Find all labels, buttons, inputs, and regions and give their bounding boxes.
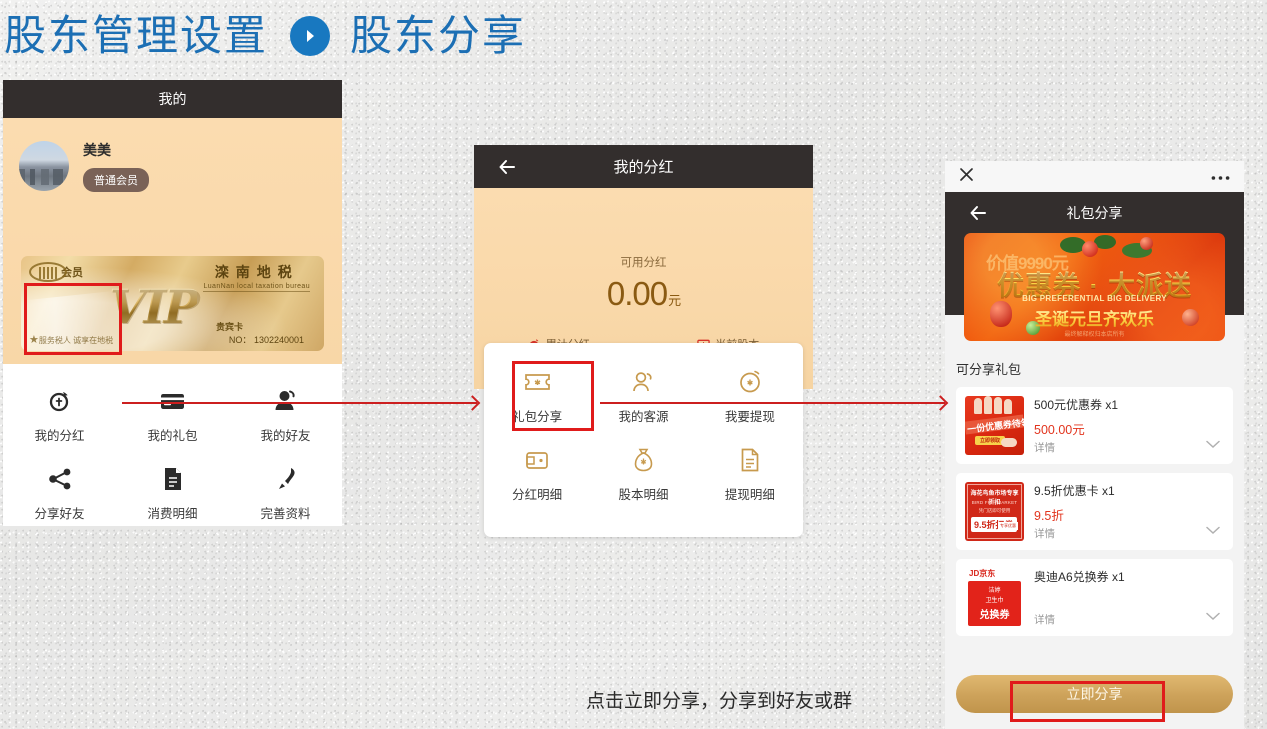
- back-arrow-icon[interactable]: [498, 158, 516, 176]
- user-row: 美美 普通会员: [3, 118, 342, 192]
- banner-sub-text: 圣诞元旦齐欢乐: [978, 305, 1211, 330]
- menu-label: 分享好友: [34, 503, 84, 522]
- thumb-inner: 海花鸟鱼市场专享折扣 BIRD FISH MARKET 凭门店即可使用 9.5折…: [967, 484, 1022, 539]
- mid-header-bar: 我的分红: [474, 145, 813, 188]
- page-subtitle: 股东分享: [350, 15, 526, 57]
- thumb-line1: 一份优惠券待领取: [966, 415, 1024, 435]
- menu-item-complete-profile[interactable]: 完善资料: [229, 454, 342, 526]
- promo-banner[interactable]: 价值9990元 优惠券 · 大派送 BIG PREFERENTIAL BIG D…: [964, 233, 1225, 341]
- close-icon[interactable]: [959, 167, 974, 187]
- gift-detail-label: 详情: [1034, 526, 1055, 541]
- friends-icon: [273, 388, 298, 414]
- grid-row: 礼包分享 我的客源 我要提现: [484, 357, 803, 435]
- gift-thumbnail: 海花鸟鱼市场专享折扣 BIRD FISH MARKET 凭门店即可使用 9.5折…: [965, 482, 1024, 541]
- vip-membership-card[interactable]: 会员 滦南地税 LuanNan local taxation bureau VI…: [21, 256, 324, 351]
- flow-arrow-1: [122, 402, 477, 404]
- available-unit: 元: [668, 293, 680, 308]
- menu-label: 我的好友: [260, 425, 310, 444]
- menu-item-dividend-detail[interactable]: 分红明细: [484, 435, 590, 513]
- available-dividend-value: 0.00元: [474, 275, 813, 313]
- list-item[interactable]: 海花鸟鱼市场专享折扣 BIRD FISH MARKET 凭门店即可使用 9.5折…: [956, 473, 1233, 550]
- phone-screen-profile: 我的 美美 普通会员 会员 滦南地税 LuanNan local taxatio…: [3, 80, 342, 526]
- finger-decor: [974, 398, 982, 414]
- edit-profile-icon: [275, 466, 297, 492]
- gift-thumbnail: JD京东 洁婷 卫生巾 兑换券: [965, 568, 1024, 627]
- gift-body: 奥迪A6兑换券 x1 详情: [1034, 568, 1224, 627]
- menu-item-my-gift[interactable]: 我的礼包: [116, 376, 229, 454]
- banner-en-text: BIG PREFERENTIAL BIG DELIVERY: [978, 294, 1211, 303]
- gift-amount: 9.5折: [1034, 505, 1224, 524]
- vip-number-value: 1302240001: [254, 335, 304, 345]
- menu-item-my-friends[interactable]: 我的好友: [229, 376, 342, 454]
- document-icon: [163, 466, 183, 492]
- flow-arrow-2: [600, 402, 945, 404]
- phone-screen-dividend: 我的分红 可用分红 0.00元 累计分红 0.00元 当前股本 20000.00…: [474, 145, 813, 543]
- thumb-box: 洁婷 卫生巾 兑换券: [968, 581, 1021, 626]
- list-item[interactable]: 一份优惠券待领取 立即领取 500元优惠券 x1 500.00元 详情: [956, 387, 1233, 464]
- thumb-tag2: 专享优惠: [998, 522, 1018, 530]
- ornament-decor: [1082, 241, 1098, 257]
- list-item[interactable]: JD京东 洁婷 卫生巾 兑换券 奥迪A6兑换券 x1 详情: [956, 559, 1233, 636]
- money-bag-icon: [632, 447, 655, 473]
- user-meta: 美美 普通会员: [83, 140, 149, 192]
- menu-label: 分红明细: [512, 484, 562, 503]
- gift-detail-label: 详情: [1034, 440, 1055, 455]
- gift-title: 9.5折优惠卡 x1: [1034, 482, 1224, 499]
- ornament-decor: [1140, 237, 1153, 250]
- wechat-topbar: [945, 161, 1244, 192]
- menu-item-gift-share[interactable]: 礼包分享: [484, 357, 590, 435]
- menu-item-capital-detail[interactable]: 股本明细: [590, 435, 696, 513]
- menu-label: 我要提现: [725, 406, 775, 425]
- menu-item-my-customers[interactable]: 我的客源: [590, 357, 696, 435]
- banner-foot-text: 最终解释权归本店所有: [978, 329, 1211, 338]
- gift-body: 9.5折优惠卡 x1 9.5折 详情: [1034, 482, 1224, 541]
- menu-label: 提现明细: [725, 484, 775, 503]
- gift-body: 500元优惠券 x1 500.00元 详情: [1034, 396, 1224, 455]
- available-amount: 0.00: [607, 275, 667, 312]
- chevron-down-icon[interactable]: [1206, 436, 1220, 454]
- vip-slogan: ★服务税人 诚享在地税: [29, 333, 113, 346]
- back-arrow-icon[interactable]: [969, 204, 987, 222]
- thumb-line2: BIRD FISH MARKET: [968, 500, 1021, 505]
- more-dots-icon[interactable]: [1211, 168, 1230, 186]
- menu-item-consumption-detail[interactable]: 消费明细: [116, 454, 229, 526]
- chevron-right-circle-icon: [290, 16, 330, 56]
- profile-menu-grid: 我的分红 我的礼包 我的好友 分享好友: [3, 364, 342, 526]
- right-header-title: 礼包分享: [1067, 203, 1123, 223]
- left-header-title: 我的: [159, 89, 187, 109]
- menu-item-share-friends[interactable]: 分享好友: [3, 454, 116, 526]
- gift-thumbnail: 一份优惠券待领取 立即领取: [965, 396, 1024, 455]
- bureau-emblem-icon: [29, 262, 67, 282]
- grid-row: 分享好友 消费明细 完善资料: [3, 454, 342, 526]
- menu-label: 我的分红: [34, 425, 84, 444]
- vip-bureau-en: LuanNan local taxation bureau: [203, 283, 310, 290]
- finger-decor: [984, 396, 992, 414]
- gift-sheet: 可分享礼包 一份优惠券待领取 立即领取 500元优惠券 x1 500.00元 详…: [945, 315, 1244, 729]
- gift-title: 奥迪A6兑换券 x1: [1034, 568, 1224, 585]
- gift-detail-label: 详情: [1034, 612, 1055, 627]
- star-icon: ★: [29, 334, 39, 346]
- vip-subtitle: 贵宾卡: [216, 320, 243, 333]
- banner-area: 价值9990元 优惠券 · 大派送 BIG PREFERENTIAL BIG D…: [945, 233, 1244, 315]
- left-header-bar: 我的: [3, 80, 342, 118]
- gift-ticket-icon: [524, 369, 551, 395]
- vip-number-label: NO：: [229, 335, 252, 345]
- vip-card-number: NO： 1302240001: [229, 333, 304, 346]
- dividend-menu-card: 礼包分享 我的客源 我要提现 分红明细: [484, 343, 803, 537]
- vip-bureau-block: 滦南地税 LuanNan local taxation bureau: [203, 262, 310, 292]
- gift-amount: 500.00元: [1034, 419, 1224, 438]
- grid-row: 我的分红 我的礼包 我的好友: [3, 376, 342, 454]
- thumb-line3: 兑换券: [968, 606, 1021, 621]
- wallet-icon: [525, 447, 549, 473]
- vip-slogan-text: 服务税人 诚享在地税: [39, 336, 113, 345]
- menu-label: 消费明细: [147, 503, 197, 522]
- vip-bureau-cn: 滦南地税: [203, 262, 310, 282]
- menu-label: 我的礼包: [147, 425, 197, 444]
- gift-title: 500元优惠券 x1: [1034, 396, 1224, 413]
- withdraw-icon: [738, 369, 762, 395]
- thumb-line2: 卫生巾: [968, 595, 1021, 604]
- mid-header-title: 我的分红: [613, 156, 673, 177]
- vip-word: VIP: [109, 280, 197, 335]
- user-name: 美美: [83, 140, 149, 160]
- menu-label: 礼包分享: [512, 406, 562, 425]
- page-title: 股东管理设置: [4, 15, 268, 57]
- phone-screen-gift-share: 礼包分享 价值9990元 优惠券 · 大派送 BIG PREFERENTIAL …: [945, 161, 1244, 729]
- available-dividend-label: 可用分红: [474, 188, 813, 270]
- finger-decor: [1004, 399, 1012, 414]
- right-header-bar: 礼包分享: [945, 192, 1244, 233]
- profile-section: 美美 普通会员 会员 滦南地税 LuanNan local taxation b…: [3, 118, 342, 364]
- menu-item-withdraw[interactable]: 我要提现: [697, 357, 803, 435]
- avatar[interactable]: [19, 141, 69, 191]
- credit-card-icon: [160, 388, 185, 414]
- chevron-down-icon[interactable]: [1206, 608, 1220, 626]
- vip-emblem: 会员: [29, 262, 83, 282]
- share-now-button[interactable]: 立即分享: [956, 675, 1233, 713]
- caption-text: 点击立即分享，分享到好友或群: [586, 686, 852, 713]
- page-title-bar: 股东管理设置 股东分享: [0, 0, 1267, 72]
- thumb-brand: JD京东: [969, 568, 995, 579]
- thumb-line1: 洁婷: [968, 585, 1021, 594]
- menu-item-withdraw-detail[interactable]: 提现明细: [697, 435, 803, 513]
- menu-label: 我的客源: [618, 406, 668, 425]
- menu-label: 股本明细: [618, 484, 668, 503]
- share-icon: [48, 466, 72, 492]
- customers-icon: [631, 369, 656, 395]
- grid-row: 分红明细 股本明细 提现明细: [484, 435, 803, 513]
- menu-item-my-dividend[interactable]: 我的分红: [3, 376, 116, 454]
- thumb-line3: 凭门店即可使用: [968, 508, 1021, 514]
- status-badge: 普通会员: [83, 168, 149, 192]
- document-icon: [740, 447, 760, 473]
- gift-section-title: 可分享礼包: [956, 359, 1233, 378]
- dividend-icon: [48, 388, 72, 414]
- menu-label: 完善资料: [260, 503, 310, 522]
- finger-decor: [994, 397, 1002, 414]
- chevron-down-icon[interactable]: [1206, 522, 1220, 540]
- hand-decor: [1001, 438, 1017, 447]
